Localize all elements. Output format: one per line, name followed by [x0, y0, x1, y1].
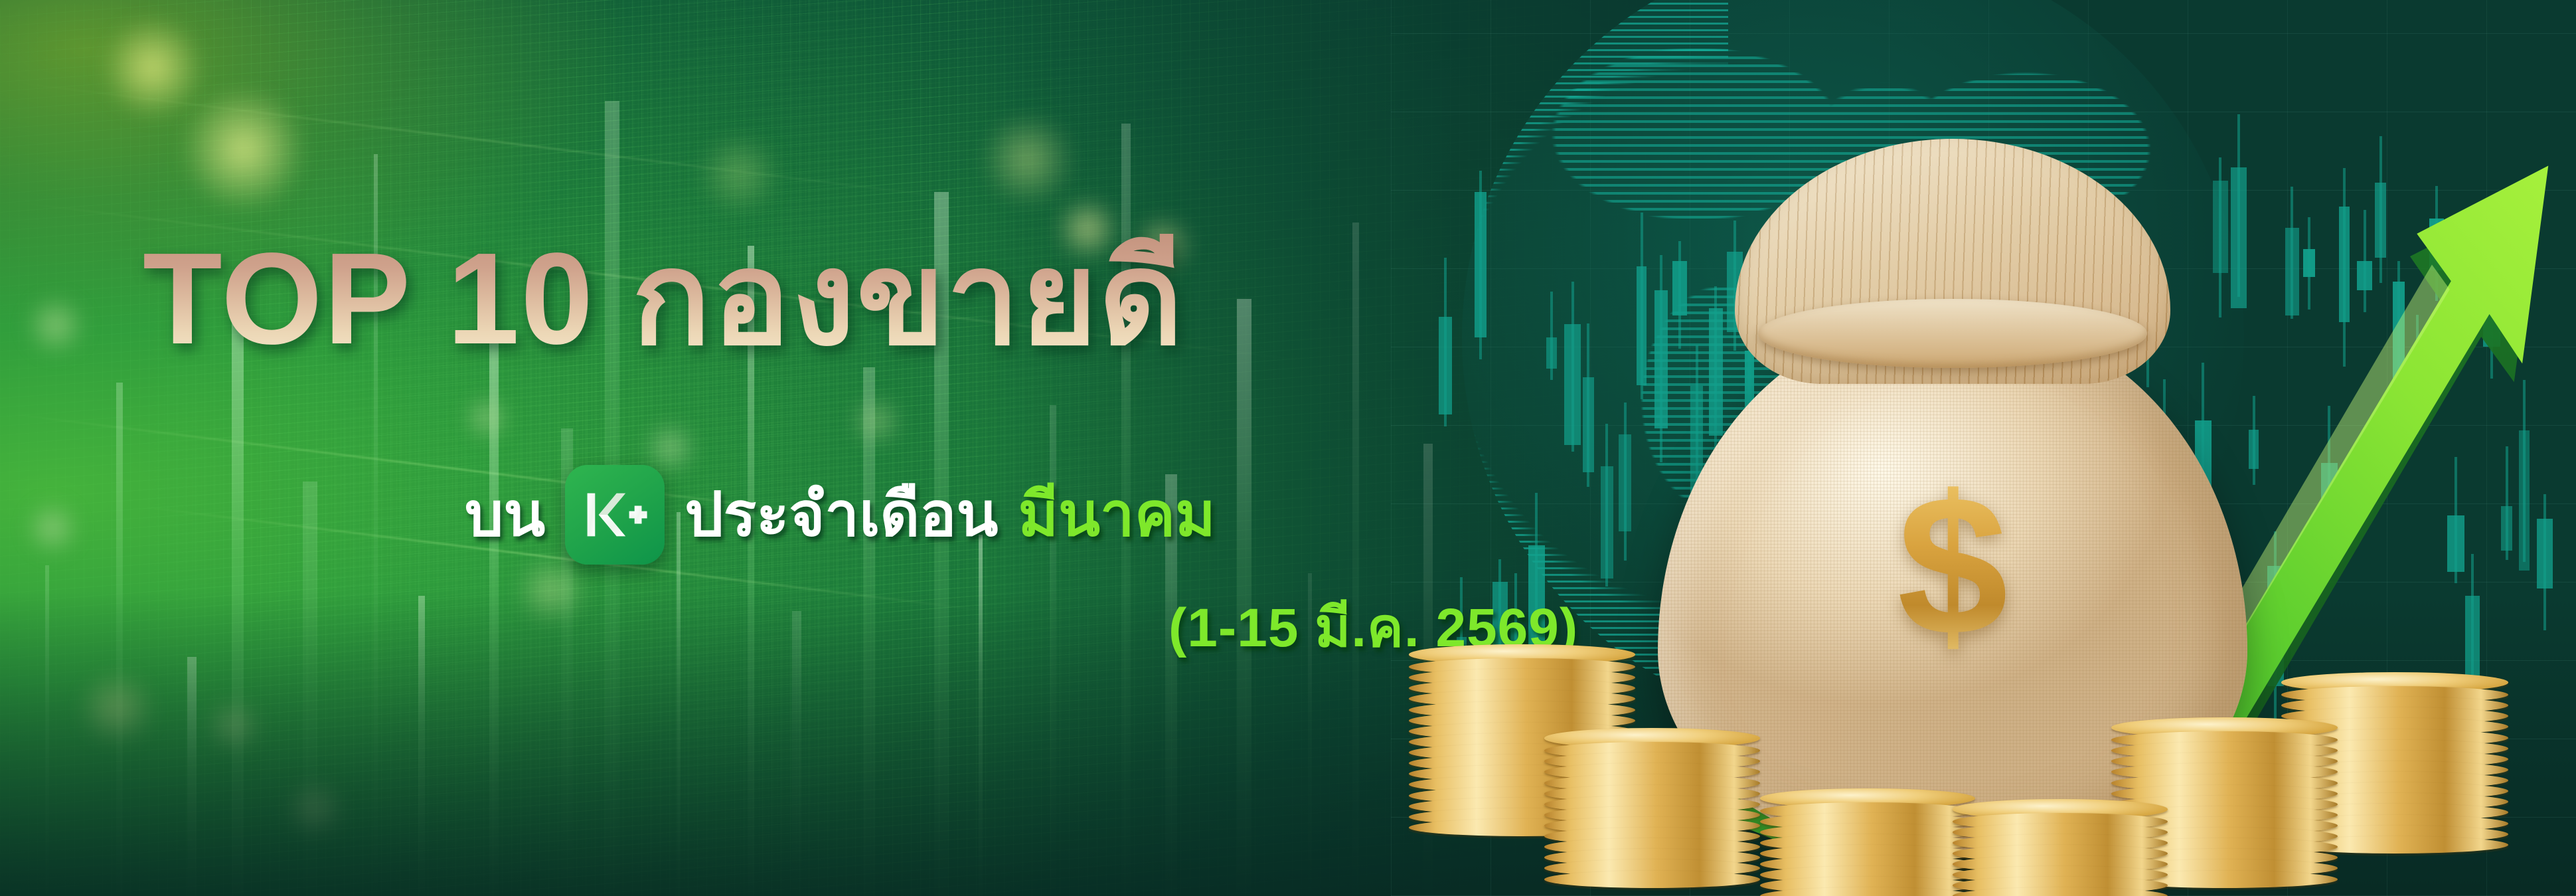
subtitle-prefix: บน — [465, 477, 545, 553]
kplus-logo[interactable] — [565, 465, 665, 565]
coin-stack — [1760, 780, 1975, 896]
coin-stack — [1544, 721, 1759, 888]
subtitle-row: บน ประจำเดือน มีนาคม — [465, 465, 1216, 565]
kplus-mark-icon — [579, 479, 651, 551]
promotional-banner: $ TOP 10 กองขายดี บน — [0, 0, 2576, 896]
coin-stack — [1953, 791, 2168, 896]
gold-coin — [1544, 871, 1759, 888]
subtitle-middle: ประจำเดือน — [684, 477, 998, 553]
subtitle-month: มีนาคม — [1018, 477, 1215, 553]
page-title: TOP 10 กองขายดี — [143, 234, 1184, 364]
